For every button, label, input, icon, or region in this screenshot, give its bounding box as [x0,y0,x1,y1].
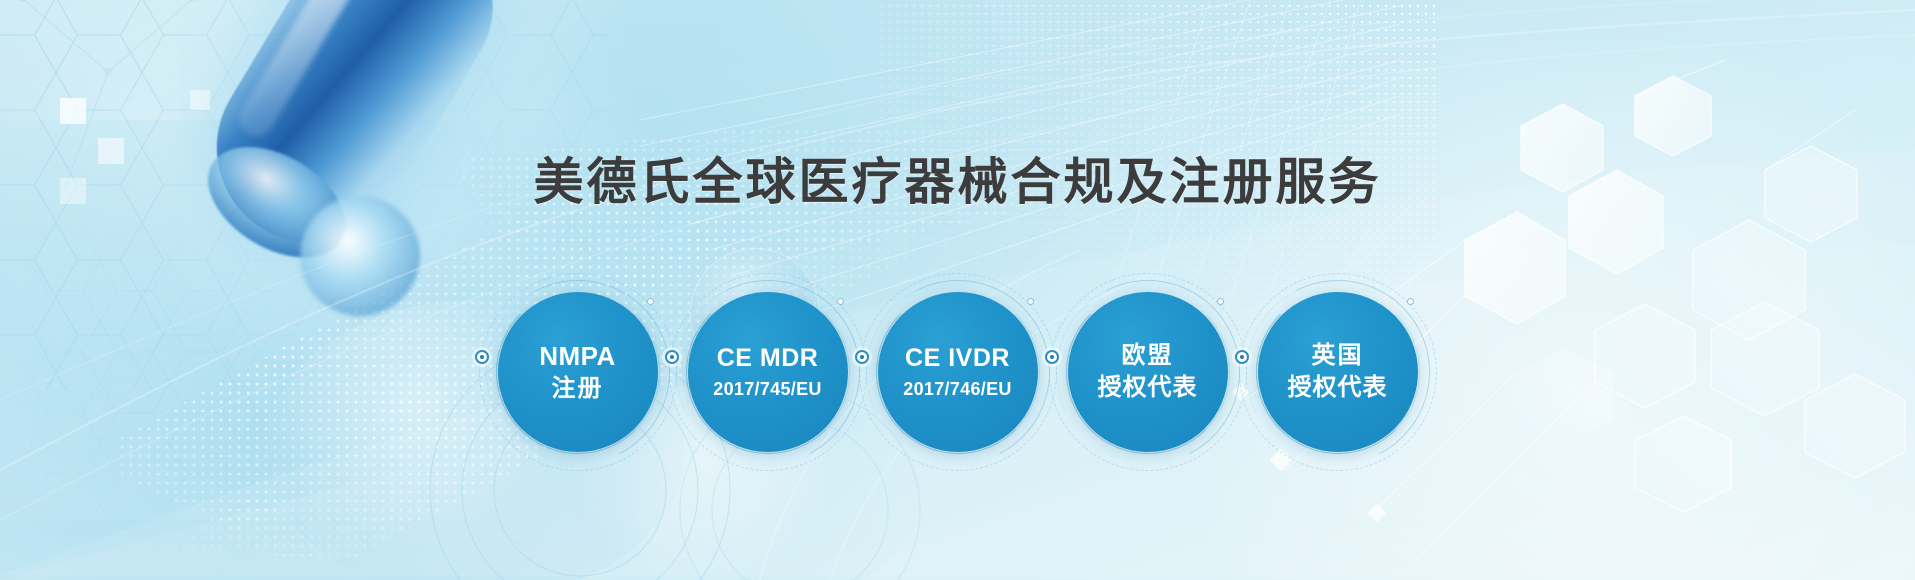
service-node-eu-rep[interactable]: 欧盟 授权代表 [1068,292,1228,452]
service-node-ce-mdr[interactable]: CE MDR 2017/745/EU [688,292,848,452]
service-label-primary: CE IVDR [905,344,1010,374]
service-node-uk-rep[interactable]: 英国 授权代表 [1258,292,1418,452]
service-label-primary: CE MDR [717,344,819,374]
tech-polygon-cluster [1165,0,1915,580]
service-circle-row: NMPA 注册 CE MDR 2017/745/EU CE IVDR 2017/ [0,292,1915,452]
service-label-secondary: 注册 [552,375,604,403]
service-node-ce-ivdr[interactable]: CE IVDR 2017/746/EU [878,292,1038,452]
service-label-secondary: 授权代表 [1288,374,1388,402]
node-dot-icon [475,350,489,364]
node-dot-small-icon [1027,298,1034,305]
node-dot-small-icon [1407,298,1414,305]
service-disc[interactable]: CE IVDR 2017/746/EU [878,292,1038,452]
service-disc[interactable]: 欧盟 授权代表 [1068,292,1228,452]
node-dot-icon [1045,350,1059,364]
node-dot-small-icon [647,298,654,305]
node-dot-icon [1235,350,1249,364]
service-disc[interactable]: NMPA 注册 [498,292,658,452]
service-label-secondary: 授权代表 [1098,374,1198,402]
service-label-secondary: 2017/746/EU [903,379,1011,400]
medical-tube-icon [181,0,524,278]
service-node-nmpa[interactable]: NMPA 注册 [498,292,658,452]
service-label-primary: NMPA [539,341,616,372]
service-label-secondary: 2017/745/EU [713,379,821,400]
node-dot-icon [855,350,869,364]
hero-banner: 美德氏全球医疗器械合规及注册服务 NMPA 注册 CE MDR 2017/745… [0,0,1915,580]
service-label-primary: 欧盟 [1122,342,1174,370]
service-disc[interactable]: 英国 授权代表 [1258,292,1418,452]
node-dot-icon [665,350,679,364]
node-dot-small-icon [1217,298,1224,305]
node-dot-small-icon [837,298,844,305]
service-disc[interactable]: CE MDR 2017/745/EU [688,292,848,452]
service-label-primary: 英国 [1312,342,1364,370]
page-title: 美德氏全球医疗器械合规及注册服务 [0,142,1915,214]
